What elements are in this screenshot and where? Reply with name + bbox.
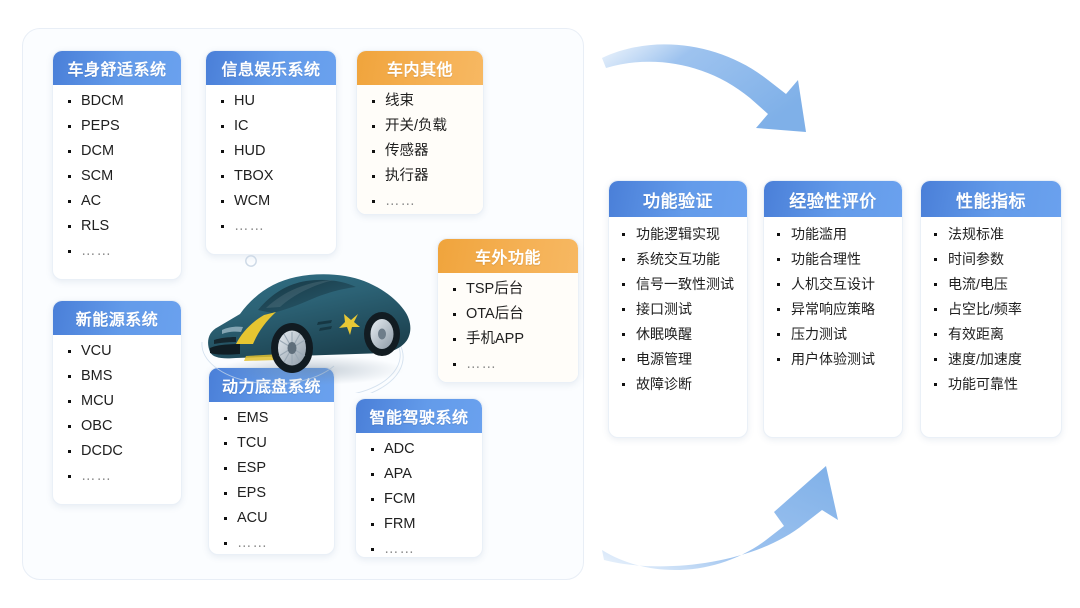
list-item: OBC [67, 419, 169, 434]
list-item: 电源管理 [621, 352, 739, 366]
list-item: 法规标准 [933, 227, 1053, 241]
list-item: OTA后台 [452, 307, 566, 322]
list-item: DCDC [67, 444, 169, 459]
panel-items-performance-metrics: 法规标准 时间参数 电流/电压 占空比/频率 有效距离 速度/加速度 功能可靠性 [921, 217, 1061, 437]
card-items-smart-driving: ADC APA FCM FRM …… [356, 433, 482, 558]
card-title-exterior-function: 车外功能 [438, 239, 578, 273]
card-title-smart-driving: 智能驾驶系统 [356, 399, 482, 433]
list-item: 信号一致性测试 [621, 277, 739, 291]
card-items-new-energy: VCU BMS MCU OBC DCDC …… [53, 335, 181, 504]
list-item: IC [220, 119, 324, 134]
car-illustration [196, 248, 428, 393]
panel-title-performance-metrics: 性能指标 [921, 181, 1061, 217]
list-item: EMS [223, 411, 322, 426]
list-item: BDCM [67, 94, 169, 109]
list-item: 功能逻辑实现 [621, 227, 739, 241]
list-item: ACU [223, 511, 322, 526]
panel-title-function-verification: 功能验证 [609, 181, 747, 217]
list-item: VCU [67, 344, 169, 359]
list-item: TSP后台 [452, 282, 566, 297]
panel-items-function-verification: 功能逻辑实现 系统交互功能 信号一致性测试 接口测试 休眠唤醒 电源管理 故障诊… [609, 217, 747, 437]
list-item-ellipsis: …… [67, 469, 169, 484]
list-item-ellipsis: …… [370, 542, 470, 557]
card-exterior-function[interactable]: 车外功能 TSP后台 OTA后台 手机APP …… [437, 238, 579, 383]
list-item-ellipsis: …… [452, 357, 566, 372]
list-item: 功能合理性 [776, 252, 894, 266]
card-items-exterior-function: TSP后台 OTA后台 手机APP …… [438, 273, 578, 383]
panel-function-verification[interactable]: 功能验证 功能逻辑实现 系统交互功能 信号一致性测试 接口测试 休眠唤醒 电源管… [608, 180, 748, 438]
card-items-interior-other: 线束 开关/负载 传感器 执行器 …… [357, 85, 483, 215]
card-items-infotainment: HU IC HUD TBOX WCM …… [206, 85, 336, 254]
card-title-new-energy: 新能源系统 [53, 301, 181, 335]
list-item: 系统交互功能 [621, 252, 739, 266]
card-smart-driving[interactable]: 智能驾驶系统 ADC APA FCM FRM …… [355, 398, 483, 558]
list-item: MCU [67, 394, 169, 409]
list-item: 传感器 [371, 144, 471, 159]
card-title-body-comfort: 车身舒适系统 [53, 51, 181, 85]
list-item-ellipsis: …… [371, 194, 471, 209]
card-new-energy[interactable]: 新能源系统 VCU BMS MCU OBC DCDC …… [52, 300, 182, 505]
list-item: BMS [67, 369, 169, 384]
list-item: 时间参数 [933, 252, 1053, 266]
panel-items-experience-evaluation: 功能滥用 功能合理性 人机交互设计 异常响应策略 压力测试 用户体验测试 [764, 217, 902, 437]
list-item: ADC [370, 442, 470, 457]
list-item-ellipsis: …… [223, 536, 322, 551]
list-item: 电流/电压 [933, 277, 1053, 291]
list-item: 用户体验测试 [776, 352, 894, 366]
list-item: 速度/加速度 [933, 352, 1053, 366]
card-items-powertrain-chassis: EMS TCU ESP EPS ACU …… [209, 402, 334, 555]
card-interior-other[interactable]: 车内其他 线束 开关/负载 传感器 执行器 …… [356, 50, 484, 215]
list-item: HU [220, 94, 324, 109]
arrow-top-right-icon [600, 28, 884, 180]
list-item: 人机交互设计 [776, 277, 894, 291]
card-infotainment[interactable]: 信息娱乐系统 HU IC HUD TBOX WCM …… [205, 50, 337, 255]
list-item: PEPS [67, 119, 169, 134]
list-item: DCM [67, 144, 169, 159]
list-item: 休眠唤醒 [621, 327, 739, 341]
list-item: 执行器 [371, 169, 471, 184]
list-item: TBOX [220, 169, 324, 184]
list-item: ESP [223, 461, 322, 476]
list-item: FCM [370, 492, 470, 507]
list-item: AC [67, 194, 169, 209]
list-item: 占空比/频率 [933, 302, 1053, 316]
panel-title-experience-evaluation: 经验性评价 [764, 181, 902, 217]
panel-experience-evaluation[interactable]: 经验性评价 功能滥用 功能合理性 人机交互设计 异常响应策略 压力测试 用户体验… [763, 180, 903, 438]
card-title-infotainment: 信息娱乐系统 [206, 51, 336, 85]
list-item: 手机APP [452, 332, 566, 347]
arrow-bottom-right-icon [600, 438, 884, 598]
list-item: 有效距离 [933, 327, 1053, 341]
list-item: 功能滥用 [776, 227, 894, 241]
list-item: TCU [223, 436, 322, 451]
list-item: EPS [223, 486, 322, 501]
list-item: 接口测试 [621, 302, 739, 316]
list-item: RLS [67, 219, 169, 234]
panel-performance-metrics[interactable]: 性能指标 法规标准 时间参数 电流/电压 占空比/频率 有效距离 速度/加速度 … [920, 180, 1062, 438]
list-item: 故障诊断 [621, 377, 739, 391]
list-item-ellipsis: …… [67, 244, 169, 259]
list-item: SCM [67, 169, 169, 184]
card-title-interior-other: 车内其他 [357, 51, 483, 85]
list-item: FRM [370, 517, 470, 532]
card-powertrain-chassis[interactable]: 动力底盘系统 EMS TCU ESP EPS ACU …… [208, 367, 335, 555]
card-items-body-comfort: BDCM PEPS DCM SCM AC RLS …… [53, 85, 181, 279]
list-item: 压力测试 [776, 327, 894, 341]
list-item: 异常响应策略 [776, 302, 894, 316]
list-item: APA [370, 467, 470, 482]
list-item: WCM [220, 194, 324, 209]
card-body-comfort[interactable]: 车身舒适系统 BDCM PEPS DCM SCM AC RLS …… [52, 50, 182, 280]
list-item: 功能可靠性 [933, 377, 1053, 391]
diagram-root: 车身舒适系统 BDCM PEPS DCM SCM AC RLS …… 信息娱乐系… [0, 0, 1080, 608]
list-item-ellipsis: …… [220, 219, 324, 234]
list-item: HUD [220, 144, 324, 159]
list-item: 开关/负载 [371, 119, 471, 134]
list-item: 线束 [371, 94, 471, 109]
